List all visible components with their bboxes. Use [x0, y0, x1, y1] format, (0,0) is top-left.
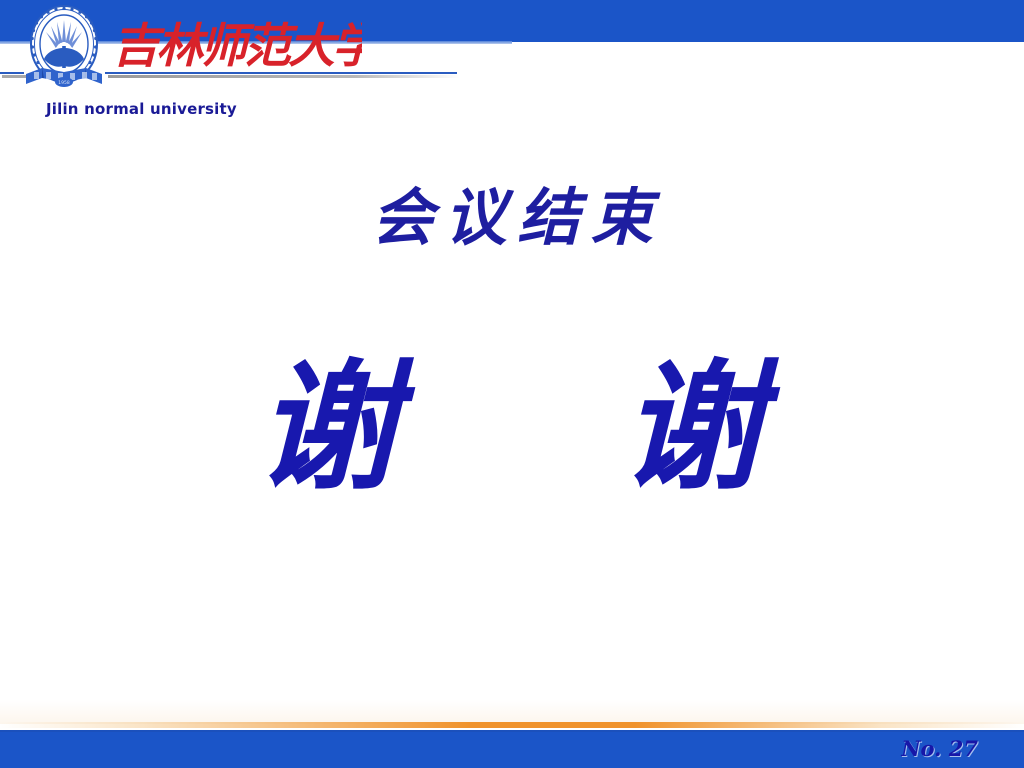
slide-title: 会议结束: [0, 185, 1024, 250]
svg-text:1958: 1958: [58, 80, 70, 86]
header-divider-stub: [0, 72, 24, 74]
university-name-cn: 吉林师范大学: [112, 12, 362, 74]
footer-bar: [0, 730, 1024, 768]
university-name-cn-text: 吉林师范大学: [112, 19, 362, 74]
presentation-slide: 1958 吉林师范大学 Jilin normal university 会议结束…: [0, 0, 1024, 768]
header-divider-shadow: [108, 75, 460, 78]
university-name-en: Jilin normal university: [46, 100, 237, 118]
header-divider-rule: [105, 72, 457, 74]
footer-accent-line: [0, 722, 1024, 728]
header-divider-stub-shadow: [2, 75, 26, 78]
slide-page-number: No. 27: [901, 736, 978, 761]
slide-thanks-text: 谢 谢: [0, 355, 1024, 502]
footer-accent-glow: [0, 700, 1024, 724]
university-logo-icon: 1958: [20, 2, 108, 94]
